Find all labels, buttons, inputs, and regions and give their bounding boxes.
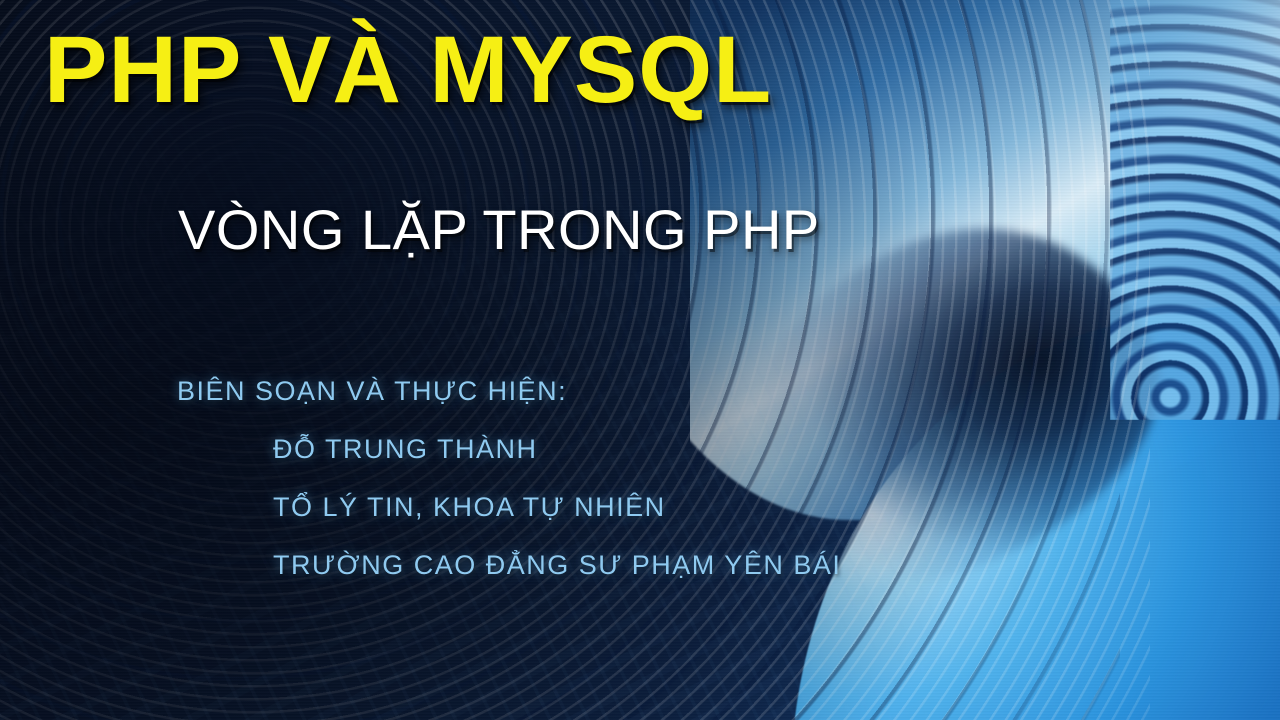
slide-content: PHP VÀ MYSQL VÒNG LẶP TRONG PHP BIÊN SOẠ… [0,0,1280,720]
credits-author-name: ĐỖ TRUNG THÀNH [273,436,538,463]
credits-institution: TRƯỜNG CAO ĐẲNG SƯ PHẠM YÊN BÁI [273,552,841,579]
credits-department: TỔ LÝ TIN, KHOA TỰ NHIÊN [273,494,666,521]
slide-title: PHP VÀ MYSQL [44,19,772,122]
presentation-title-slide: PHP VÀ MYSQL VÒNG LẶP TRONG PHP BIÊN SOẠ… [0,0,1280,720]
credits-lead-label: BIÊN SOẠN VÀ THỰC HIỆN: [177,378,567,405]
slide-subtitle: VÒNG LẶP TRONG PHP [178,199,820,261]
